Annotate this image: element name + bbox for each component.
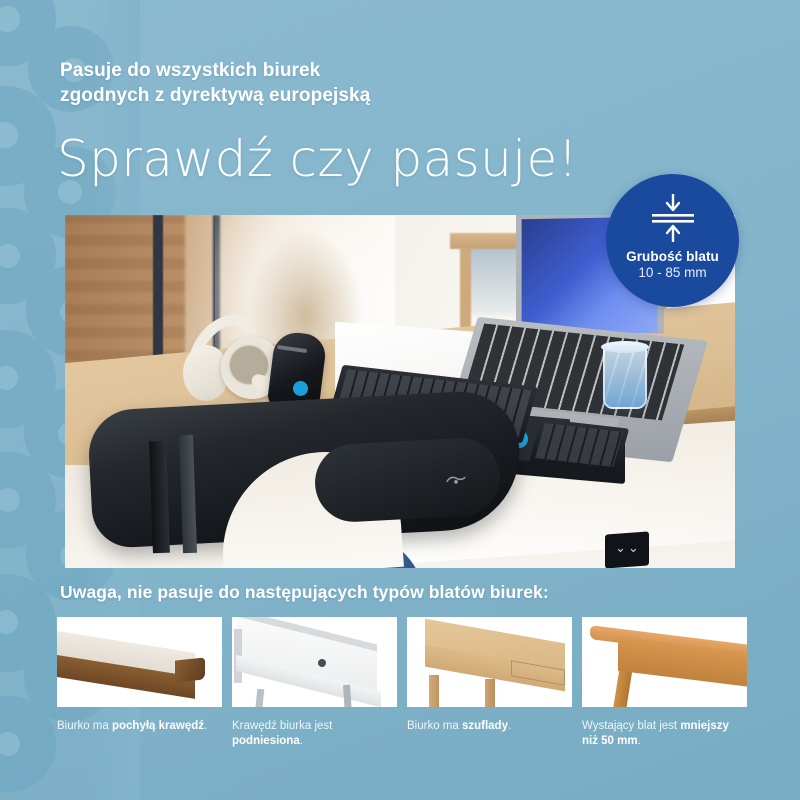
- thickness-arrows-icon: [642, 190, 704, 246]
- caption-bold-3: szuflady: [462, 720, 508, 732]
- thumbnail-item-2: Krawędź biurka jest podniesiona.: [232, 617, 397, 749]
- thumbnail-caption-4: Wystający blat jest mniejszy niż 50 mm.: [582, 719, 747, 749]
- beveled-wood-desk-edge-thumbnail: [57, 617, 222, 707]
- promo-page: Pasuje do wszystkich biurek zgodnych z d…: [0, 0, 800, 800]
- caption-post-3: .: [508, 720, 511, 732]
- caption-pre-1: Biurko ma: [57, 720, 112, 732]
- thumbnail-caption-3: Biurko ma szuflady.: [407, 719, 572, 734]
- cherry-table-overhang-thumbnail: [582, 617, 747, 707]
- kicker-line-2: zgodnych z dyrektywą europejską: [60, 83, 370, 108]
- kicker-text: Pasuje do wszystkich biurek zgodnych z d…: [60, 58, 370, 108]
- thumbnail-item-1: Biurko ma pochyłą krawędź.: [57, 617, 222, 749]
- caption-pre-3: Biurko ma: [407, 720, 462, 732]
- thumbnail-item-4: Wystający blat jest mniejszy niż 50 mm.: [582, 617, 747, 749]
- thumbnail-caption-2: Krawędź biurka jest podniesiona.: [232, 719, 397, 749]
- thumbnail-item-3: Biurko ma szuflady.: [407, 617, 572, 749]
- caption-post-2: .: [300, 735, 303, 747]
- caption-pre-2: Krawędź biurka jest: [232, 720, 332, 732]
- thumbnail-row: Biurko ma pochyłą krawędź. Krawędź biurk…: [57, 617, 747, 749]
- caption-bold-1: pochyłą krawędź: [112, 720, 204, 732]
- caption-post-1: .: [204, 720, 207, 732]
- water-glass: [603, 345, 647, 409]
- oak-desk-with-drawers-thumbnail: [407, 617, 572, 707]
- badge-title: Grubość blatu: [626, 249, 719, 264]
- page-title: Sprawdź czy pasuje!: [57, 130, 578, 188]
- kicker-line-1: Pasuje do wszystkich biurek: [60, 58, 370, 83]
- caption-post-4: .: [638, 735, 641, 747]
- caption-pre-4: Wystający blat jest: [582, 720, 680, 732]
- badge-value: 10 - 85 mm: [638, 265, 706, 280]
- brand-logo-icon: [445, 473, 467, 487]
- thumbnail-caption-1: Biurko ma pochyłą krawędź.: [57, 719, 222, 734]
- notice-heading: Uwaga, nie pasuje do następujących typów…: [60, 582, 549, 603]
- white-desk-raised-edge-thumbnail: [232, 617, 397, 707]
- caption-bold-2: podniesiona: [232, 735, 300, 747]
- thickness-badge: Grubość blatu 10 - 85 mm: [606, 174, 739, 307]
